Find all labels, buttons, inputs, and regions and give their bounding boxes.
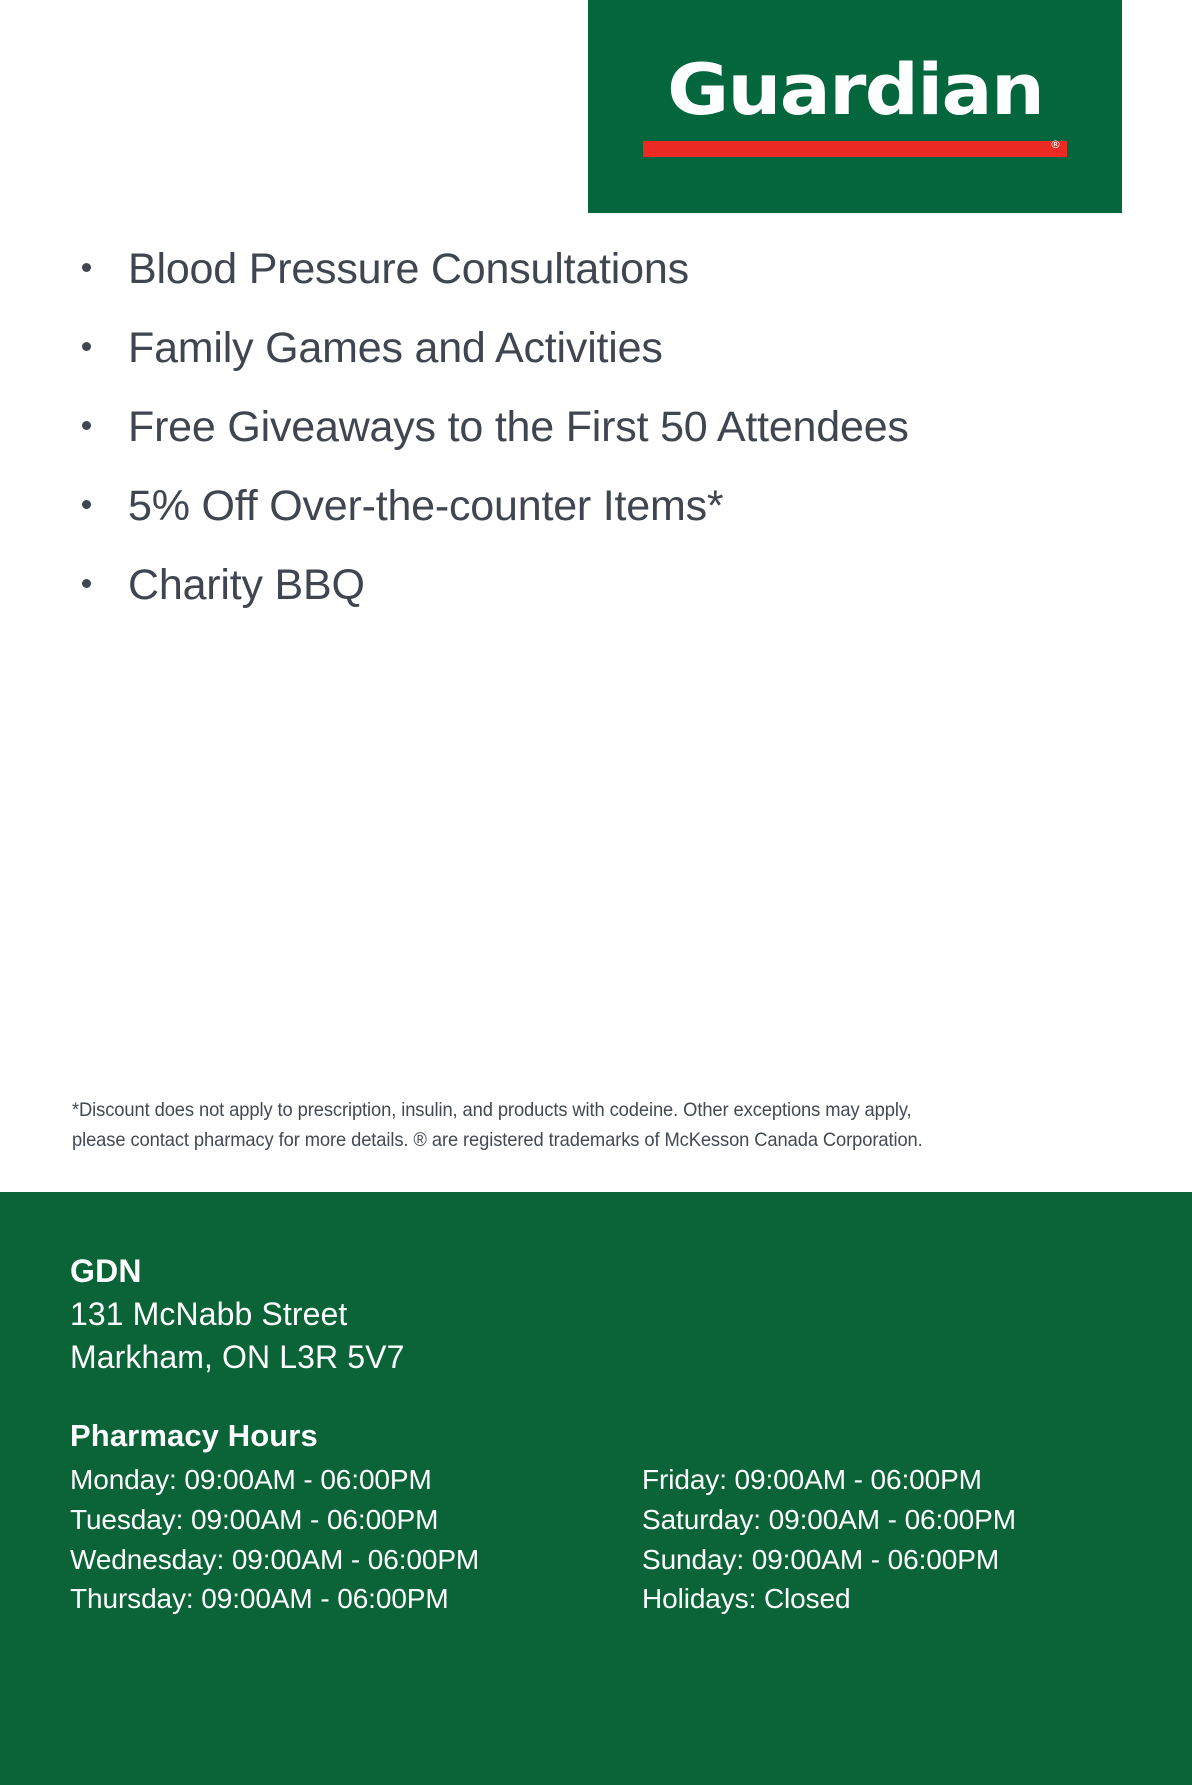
pharmacy-hours-column-right: Friday: 09:00AM - 06:00PM Saturday: 09:0… [642, 1460, 1192, 1619]
hours-row: Holidays: Closed [642, 1579, 1192, 1619]
store-city-province-postal: Markham, ON L3R 5V7 [70, 1336, 1192, 1379]
disclaimer-line-1: *Discount does not apply to prescription… [72, 1096, 1055, 1126]
logo-underline-wrapper: ® [643, 141, 1067, 157]
feature-label: Charity BBQ [128, 564, 365, 607]
hours-row: Saturday: 09:00AM - 06:00PM [642, 1500, 1192, 1540]
guardian-wordmark-text: Guardian [667, 55, 1043, 125]
list-item: Family Games and Activities [0, 327, 1192, 370]
store-street-address: 131 McNabb Street [70, 1293, 1192, 1336]
bullet-dot-icon [82, 342, 91, 351]
guardian-logo: Guardian ® [588, 0, 1122, 213]
feature-label: Family Games and Activities [128, 327, 663, 370]
bullet-dot-icon [82, 579, 91, 588]
hours-row: Monday: 09:00AM - 06:00PM [70, 1460, 642, 1500]
list-item: Blood Pressure Consultations [0, 248, 1192, 291]
feature-label: Blood Pressure Consultations [128, 248, 689, 291]
bullet-dot-icon [82, 500, 91, 509]
feature-label: 5% Off Over-the-counter Items* [128, 485, 723, 528]
list-item: 5% Off Over-the-counter Items* [0, 485, 1192, 528]
hours-row: Wednesday: 09:00AM - 06:00PM [70, 1540, 642, 1580]
bullet-dot-icon [82, 263, 91, 272]
pharmacy-hours-column-left: Monday: 09:00AM - 06:00PM Tuesday: 09:00… [70, 1460, 642, 1619]
hours-row: Friday: 09:00AM - 06:00PM [642, 1460, 1192, 1500]
pharmacy-hours-title: Pharmacy Hours [70, 1418, 1192, 1454]
pharmacy-hours-grid: Monday: 09:00AM - 06:00PM Tuesday: 09:00… [70, 1460, 1192, 1619]
disclaimer-text: *Discount does not apply to prescription… [72, 1096, 1055, 1155]
list-item: Charity BBQ [0, 564, 1192, 607]
store-name: GDN [70, 1252, 1192, 1291]
list-item: Free Giveaways to the First 50 Attendees [0, 406, 1192, 449]
bullet-dot-icon [82, 421, 91, 430]
hours-row: Thursday: 09:00AM - 06:00PM [70, 1579, 642, 1619]
hours-row: Tuesday: 09:00AM - 06:00PM [70, 1500, 642, 1540]
store-info-footer: GDN 131 McNabb Street Markham, ON L3R 5V… [0, 1192, 1192, 1785]
flyer-header: Guardian ® [0, 0, 1192, 213]
feature-label: Free Giveaways to the First 50 Attendees [128, 406, 909, 449]
hours-row: Sunday: 09:00AM - 06:00PM [642, 1540, 1192, 1580]
registered-trademark-icon: ® [1050, 139, 1061, 150]
disclaimer-line-2: please contact pharmacy for more details… [72, 1126, 1055, 1156]
logo-red-underline-bar [643, 141, 1067, 157]
features-list: Blood Pressure Consultations Family Game… [0, 248, 1192, 643]
